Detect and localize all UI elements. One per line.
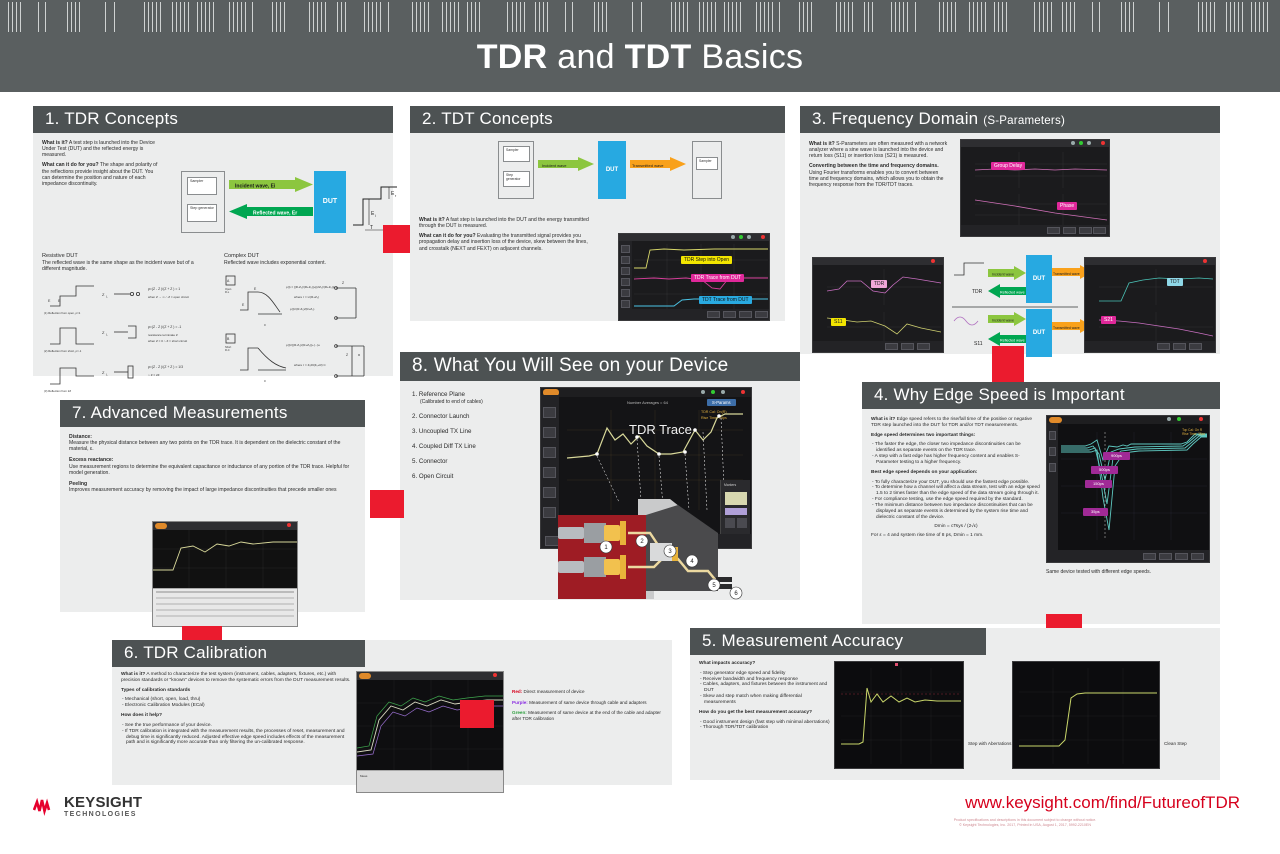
svg-text:Incident wave: Incident wave [542, 163, 567, 168]
panel3-para2-lead: Converting between the time and frequenc… [809, 163, 939, 169]
tick-mark [450, 2, 451, 32]
panel7-title: 7. Advanced Measurements [60, 400, 365, 427]
panel5-trigger-marker [895, 663, 898, 666]
tick-mark [707, 2, 708, 32]
panel6-sec1-head: Types of calibration standards [121, 688, 353, 694]
svg-text:R-L: R-L [225, 290, 230, 294]
scope-bottom-toolbar[interactable] [619, 309, 769, 320]
panel6-legend-key: Purple: [512, 700, 528, 705]
tick-mark [969, 2, 970, 32]
svg-text:ρ=(Z - Z )/(Z + Z ) = 1/3: ρ=(Z - Z )/(Z + Z ) = 1/3 [148, 365, 183, 369]
tick-mark [977, 2, 978, 32]
tick-mark [994, 2, 995, 32]
tick-mark [197, 2, 198, 32]
panel5-title: 5. Measurement Accuracy [690, 628, 986, 655]
tick-mark [844, 2, 845, 32]
panel8-item-number: 4. [412, 443, 417, 450]
svg-text:E: E [58, 299, 61, 303]
panel8-list-item: 6. Open Circuit [412, 473, 537, 481]
svg-text:i: i [375, 214, 376, 218]
scope7-plot-area [153, 530, 297, 588]
scope-label-tdr-trace: TDR Trace from DUT [691, 274, 744, 282]
tick-mark [180, 2, 181, 32]
panel6-legend-key: Red: [512, 689, 522, 694]
panel5-number: 5. [702, 631, 717, 650]
tick-mark [594, 2, 595, 32]
panel6-legend-item: Purple: Measurement of same device throu… [512, 700, 664, 706]
keysight-logo-line2: TECHNOLOGIES [64, 810, 142, 819]
sampler-box: Sampler [187, 177, 217, 195]
tick-mark [309, 2, 310, 32]
tick-mark [947, 2, 948, 32]
tick-mark [114, 2, 115, 32]
tick-mark [1198, 2, 1199, 32]
scope3l-label-s11: S11 [831, 318, 846, 326]
panel3-left-scope: TDR S11 [812, 257, 944, 353]
tick-mark [683, 2, 684, 32]
tick-mark [547, 2, 548, 32]
svg-text:ρ(t) = [(R-Z₀)/(R+Z₀)]+[(2Z₀)/: ρ(t) = [(R-Z₀)/(R+Z₀)]+[(2Z₀)/(R+Z₀)]e [286, 285, 336, 289]
scope7-app-logo [155, 523, 167, 529]
panel7-scope-screenshot [152, 521, 298, 627]
svg-text:Incident wave: Incident wave [992, 318, 1014, 322]
tick-mark [981, 2, 982, 32]
panel5-caption-right: Clean Step [1164, 741, 1204, 747]
panel2-text: What is it? A fast step is launched into… [419, 217, 594, 256]
tick-mark [732, 2, 733, 32]
panel4-title-text: Why Edge Speed is Important [894, 385, 1125, 404]
tick-mark [868, 2, 869, 32]
panel1-block-diagram: Sampler Step generator Incident wave, Ei… [181, 171, 381, 236]
tick-mark [79, 2, 80, 32]
tick-mark [1047, 2, 1048, 32]
panel2-title-text: TDT Concepts [441, 109, 553, 128]
tick-mark [799, 2, 800, 32]
tick-mark [943, 2, 944, 32]
scope3r-bottom-toolbar[interactable] [1085, 341, 1215, 352]
panel5-right-scope [1012, 661, 1160, 769]
tick-mark [12, 2, 13, 32]
svg-text:∴ Z = 2Z: ∴ Z = 2Z [148, 373, 160, 377]
panel4-text: What is it? Edge speed refers to the ris… [871, 417, 1041, 543]
panel7-item: PeelingImproves measurement accuracy by … [69, 481, 357, 493]
page-title-light: and [547, 38, 624, 76]
panel6-text: What is it? A method to characterize the… [121, 672, 353, 746]
tick-mark [687, 2, 688, 32]
panel6-legend: Red: Direct measurement of devicePurple:… [512, 689, 664, 727]
incident-wave-arrow-2: Incident wave [538, 157, 594, 171]
panel1-number: 1. [45, 109, 60, 128]
scope3r-label-tdt: TDT [1167, 278, 1183, 286]
tick-mark [380, 2, 381, 32]
scope4-close-dot[interactable] [1199, 417, 1203, 421]
tick-mark [811, 2, 812, 32]
tick-mark [632, 2, 633, 32]
tick-mark [715, 2, 716, 32]
panel8-list-item: 2. Connector Launch [412, 413, 537, 421]
tick-mark [424, 2, 425, 32]
scope8-max-dot[interactable] [711, 390, 715, 394]
keysight-logo-line1: KEYSIGHT [64, 795, 142, 810]
tick-mark [955, 2, 956, 32]
tick-mark [1062, 2, 1063, 32]
resistive-dut-block: Resistive DUT The reflected wave is the … [42, 253, 210, 394]
svg-text:Transmitted wave: Transmitted wave [632, 163, 664, 168]
tick-mark [895, 2, 896, 32]
panel8-title-text: What You Will See on your Device [434, 355, 729, 376]
svg-text:S11: S11 [974, 341, 983, 347]
panel4-sec2-head: Best edge speed depends on your applicat… [871, 470, 1041, 476]
page-title: TDR and TDT Basics [0, 38, 1280, 77]
tick-mark [284, 2, 285, 32]
transmitted-wave-arrow: Transmitted wave [630, 157, 686, 171]
panel3-text: What is it? S-Parameters are often measu… [809, 141, 949, 192]
tick-mark [836, 2, 837, 32]
tick-mark [20, 2, 21, 32]
panel4-title: 4. Why Edge Speed is Important [862, 382, 1220, 409]
panel8-item-number: 2. [412, 413, 417, 420]
scope-max-dot[interactable] [739, 235, 743, 239]
svg-text:Reflected wave: Reflected wave [1000, 338, 1025, 342]
resistive-dut-heading: Resistive DUT [42, 253, 210, 260]
tick-mark [446, 2, 447, 32]
panel4-formula: Dmin = cTsys / (2√ε) [871, 524, 1041, 530]
tick-mark [376, 2, 377, 32]
tick-mark [1070, 2, 1071, 32]
sampler2-box: Sampler [696, 157, 718, 170]
panel2-para1: A fast step is launched into the DUT and… [419, 217, 589, 229]
panel-why-edge-speed: 4. Why Edge Speed is Important What is i… [862, 382, 1220, 624]
scope4-edge-label: 150ps [1085, 480, 1112, 488]
panel-what-you-will-see: 8. What You Will See on your Device 1. R… [400, 352, 800, 600]
panel8-title: 8. What You Will See on your Device [400, 352, 800, 381]
scope3-titlebar [961, 140, 1109, 147]
panel2-number: 2. [422, 109, 437, 128]
tick-mark [899, 2, 900, 32]
tick-mark [1133, 2, 1134, 32]
tick-mark [543, 2, 544, 32]
tick-mark [641, 2, 642, 32]
fine-print-line2: © Keysight Technologies, Inc. 2017, Prin… [810, 823, 1240, 828]
svg-text:(2) Reflection from short, ρ=-: (2) Reflection from short, ρ=-1 [44, 349, 82, 353]
svg-text:E: E [48, 299, 51, 303]
tick-mark [598, 2, 599, 32]
scope4-left-toolbar[interactable] [1047, 423, 1058, 562]
scope4-bottom-toolbar[interactable] [1047, 550, 1209, 562]
panel8-item-label: Connector Launch [419, 413, 470, 420]
scope8-avg-label: Number Averages = 64 [627, 400, 668, 405]
tick-mark [372, 2, 373, 32]
svg-text:0: 0 [264, 379, 266, 383]
scope3l-bottom-toolbar[interactable] [813, 341, 943, 352]
panel2-para2-lead: What can it do for you? [419, 233, 476, 239]
scope3l-close-dot[interactable] [931, 259, 935, 263]
tick-mark [148, 2, 149, 32]
panel6-sec2-list: - See the true performance of your devic… [121, 723, 353, 746]
panel4-para1: Edge speed refers to the rise/fall time … [871, 417, 1032, 428]
svg-text:Incident wave, Ei: Incident wave, Ei [235, 183, 276, 189]
tick-mark [160, 2, 161, 32]
dut-block-2: DUT [598, 141, 626, 199]
tick-mark [1159, 2, 1160, 32]
panel-tdt-concepts: 2. TDT Concepts Sampler Step generator I… [410, 106, 785, 321]
panel1-para1-lead: What is it? [42, 140, 68, 146]
scope3l-label-tdr: TDR [871, 280, 887, 288]
scope4-max-dot[interactable] [1177, 417, 1181, 421]
tick-mark [764, 2, 765, 32]
tick-mark [454, 2, 455, 32]
tick-mark [891, 2, 892, 32]
svg-text:TDR Trace: TDR Trace [629, 422, 692, 437]
tick-mark [939, 2, 940, 32]
group-delay-plot [975, 152, 1107, 188]
svg-text:Z: Z [102, 330, 105, 335]
panel5-title-text: Measurement Accuracy [722, 631, 904, 650]
tick-mark [467, 2, 468, 32]
tick-mark [768, 2, 769, 32]
tick-mark [341, 2, 342, 32]
tick-mark [602, 2, 603, 32]
tick-mark [807, 2, 808, 32]
tick-mark [105, 2, 106, 32]
tick-mark [475, 2, 476, 32]
svg-text:T: T [370, 225, 373, 231]
tick-mark [176, 2, 177, 32]
scope3-min-dot[interactable] [1071, 141, 1075, 145]
tick-mark [458, 2, 459, 32]
tick-mark [1099, 2, 1100, 32]
svg-text:ρ(t)=(R-Z₀)/(R+Z₀): ρ(t)=(R-Z₀)/(R+Z₀) [290, 307, 314, 311]
svg-text:Transmitted wave: Transmitted wave [1053, 272, 1080, 276]
scope3-max-dot[interactable] [1079, 141, 1083, 145]
panel-tdr-calibration: 6. TDR Calibration What is it? A method … [112, 640, 672, 785]
tick-mark [1238, 2, 1239, 32]
tick-mark [16, 2, 17, 32]
tick-mark [213, 2, 214, 32]
tick-mark [1234, 2, 1235, 32]
step-generator-label: Step generator [188, 205, 216, 211]
scope4-info: Top Cal: On RRise Time: 35ps [1182, 428, 1205, 436]
svg-text:Z: Z [346, 353, 348, 357]
tick-mark [1039, 2, 1040, 32]
panel6-sec1-list: - Mechanical (short, open, load, thru)- … [121, 697, 353, 709]
svg-text:0: 0 [264, 323, 266, 327]
tick-mark [779, 2, 780, 32]
panel5-q1-item: - Skew and step match when making differ… [699, 694, 831, 706]
svg-text:when Z → ∞ ∴ Z = open circuit: when Z → ∞ ∴ Z = open circuit [148, 295, 189, 299]
panel6-legend-key: Green: [512, 710, 527, 715]
tick-mark [1251, 2, 1252, 32]
tick-mark [728, 2, 729, 32]
panel5-q2-list: - Good instrument design (fast step with… [699, 720, 831, 732]
panel5-clean-step-plot [1019, 668, 1157, 764]
panel2-block-diagram: Sampler Step generator Incident wave DUT… [488, 141, 738, 203]
svg-text:when Z = 0 ∴ Z = short circuit: when Z = 0 ∴ Z = short circuit [148, 339, 187, 343]
svg-text:Reflected wave: Reflected wave [1000, 290, 1025, 294]
panel3-middle-flow: Incident wave Reflected wave TDR Inciden… [952, 253, 1078, 361]
scope6-control-area[interactable]: Meas [357, 770, 503, 792]
scope8-restore-dot[interactable] [721, 390, 725, 394]
panel8-numbered-list: 1. Reference Plane(Calibrated to end of … [412, 391, 537, 488]
svg-text:R-C: R-C [225, 348, 230, 352]
panel3-para2: Using Fourier transforms enables you to … [809, 170, 944, 188]
panel3-title-text: Frequency Domain [832, 109, 979, 128]
panel8-item-label: Uncoupled TX Line [419, 428, 472, 435]
tick-mark [388, 2, 389, 32]
phase-plot [975, 194, 1107, 226]
tick-mark [740, 2, 741, 32]
scope-restore-dot[interactable] [747, 235, 751, 239]
tick-mark [998, 2, 999, 32]
scope3-bottom-toolbar[interactable] [961, 225, 1109, 236]
panel7-item: Distance:Measure the physical distance b… [69, 434, 357, 453]
tick-mark [1230, 2, 1231, 32]
panel4-sec1-item: - The faster the edge, the closer two im… [871, 442, 1041, 454]
tick-mark [75, 2, 76, 32]
scope8-close-dot[interactable] [741, 390, 745, 394]
tick-mark [144, 2, 145, 32]
panel2-scope-screenshot: TDR Step into Open TDR Trace from DUT TD… [618, 233, 770, 321]
tick-mark [903, 2, 904, 32]
page-title-bold1: TDR [477, 38, 548, 76]
scope3-close-dot[interactable] [1101, 141, 1105, 145]
scope8-sparams-button[interactable]: S-Params [707, 399, 736, 406]
scope6-titlebar [357, 672, 503, 680]
footer-url[interactable]: www.keysight.com/find/FutureofTDR [760, 793, 1240, 813]
panel4-sec2-item: - To determine how a channel will affect… [871, 485, 1041, 497]
tick-mark [1002, 2, 1003, 32]
dut-block: DUT [314, 171, 346, 233]
tick-mark [252, 2, 253, 32]
scope-close-dot[interactable] [761, 235, 765, 239]
tick-mark [907, 2, 908, 32]
tick-mark [507, 2, 508, 32]
svg-text:L: L [106, 295, 108, 299]
panel-frequency-domain: 3. Frequency Domain (S-Parameters) What … [800, 106, 1220, 354]
panel6-legend-text: Measurement of same device through cable… [529, 700, 646, 705]
svg-text:Transmitted wave: Transmitted wave [1053, 326, 1080, 330]
svg-text:Z: Z [102, 292, 105, 297]
svg-text:TDR: TDR [972, 289, 983, 295]
tick-mark [205, 2, 206, 32]
tick-mark [184, 2, 185, 32]
panel6-sec2-item: - If TDR calibration is integrated with … [121, 729, 353, 747]
page-title-bold2: TDT [625, 38, 692, 76]
incident-wave-arrow: Incident wave, Ei [229, 177, 313, 192]
tick-mark [915, 2, 916, 32]
tick-mark [428, 2, 429, 32]
svg-text:resistance terminate Z: resistance terminate Z [148, 333, 178, 337]
panel6-number: 6. [124, 643, 139, 662]
connector-red-6 [460, 700, 494, 728]
tick-mark [1043, 2, 1044, 32]
scope4-edge-label: 35ps [1083, 508, 1108, 516]
scope4-min-dot[interactable] [1167, 417, 1171, 421]
panel3-title: 3. Frequency Domain (S-Parameters) [800, 106, 1220, 133]
scope3-restore-dot[interactable] [1087, 141, 1091, 145]
panel3-para1-lead: What is it? [809, 141, 835, 147]
svg-text:Incident wave: Incident wave [992, 272, 1014, 276]
panel5-q1-list: - Step generator edge speed and fidelity… [699, 671, 831, 706]
tick-mark [67, 2, 68, 32]
panel6-sec1-item: - Electronic Calibration Modules (ECal) [121, 703, 353, 709]
tick-mark [45, 2, 46, 32]
scope-min-dot[interactable] [731, 235, 735, 239]
svg-text:r: r [395, 194, 397, 198]
tick-mark [803, 2, 804, 32]
scope8-min-dot[interactable] [701, 390, 705, 394]
scope7-close-dot[interactable] [287, 523, 291, 527]
tick-mark [1226, 2, 1227, 32]
tick-mark [368, 2, 369, 32]
panel5-left-scope [834, 661, 964, 769]
panel8-board-illustration: 123 456 [558, 499, 790, 617]
panel6-title-text: TDR Calibration [143, 643, 267, 662]
panel4-sec2-item: - The minimum distance between two imped… [871, 503, 1041, 521]
tick-mark [1255, 2, 1256, 32]
tick-mark [209, 2, 210, 32]
svg-text:E: E [242, 303, 245, 307]
scope6-close-dot[interactable] [493, 673, 497, 677]
panel2-para1-lead: What is it? [419, 217, 445, 223]
scope8-left-toolbar[interactable] [541, 395, 559, 548]
step-generator-box: Step generator [187, 204, 217, 222]
panel8-number: 8. [412, 355, 428, 376]
panel4-caption: Same device tested with different edge s… [1046, 569, 1212, 575]
panel-measurement-accuracy: 5. Measurement Accuracy What impacts acc… [690, 628, 1220, 780]
panel3-number: 3. [812, 109, 827, 128]
tick-mark [1206, 2, 1207, 32]
panel8-item-number: 5. [412, 458, 417, 465]
panel4-para1-lead: What is it? [871, 417, 895, 422]
scope4-edge-label: 500ps [1091, 466, 1118, 474]
tick-mark [1168, 2, 1169, 32]
panel6-scope-screenshot: Meas [356, 671, 504, 793]
tick-mark [1034, 2, 1035, 32]
footer-fine-print: Product specifications and descriptions … [810, 818, 1240, 828]
s21-plot [1099, 312, 1213, 342]
panel4-sec1-item: - A step with a fast edge has higher fre… [871, 454, 1041, 466]
tick-mark [703, 2, 704, 32]
connector-red-4 [370, 490, 404, 518]
panel2-title: 2. TDT Concepts [410, 106, 785, 133]
tick-mark [606, 2, 607, 32]
tick-mark [872, 2, 873, 32]
tick-mark [524, 2, 525, 32]
tick-mark [8, 2, 9, 32]
svg-text:E: E [254, 287, 257, 291]
s11-plot [827, 312, 941, 342]
tick-mark [736, 2, 737, 32]
tick-mark [364, 2, 365, 32]
panel8-item-label: Coupled Diff TX Line [419, 443, 476, 450]
tick-mark [416, 2, 417, 32]
panel1-title-text: TDR Concepts [64, 109, 178, 128]
scope7-waveform [153, 530, 298, 588]
tick-mark [229, 2, 230, 32]
tick-mark [724, 2, 725, 32]
scope7-table-area [153, 588, 297, 626]
panel7-item-text: Improves measurement accuracy by removin… [69, 487, 357, 493]
scope3r-close-dot[interactable] [1203, 259, 1207, 263]
tick-mark [188, 2, 189, 32]
complex-dut-block: Complex DUT Reflected wave includes expo… [224, 253, 384, 388]
sampler-label-2: Sampler [504, 147, 529, 153]
panel5-q1-item: - Cables, adapters, and fixtures between… [699, 682, 831, 694]
tick-mark [864, 2, 865, 32]
scope4-edge-speed-waveforms [1061, 432, 1207, 540]
complex-dut-heading: Complex DUT [224, 253, 384, 260]
